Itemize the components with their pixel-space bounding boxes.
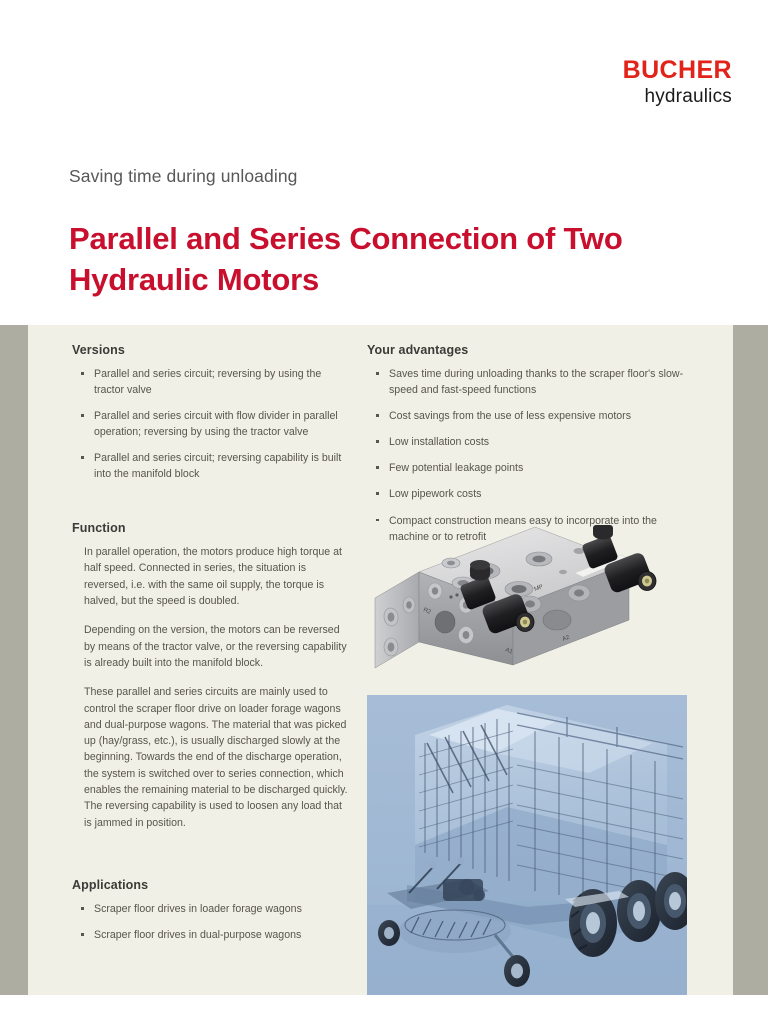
advantages-heading: Your advantages (367, 343, 687, 357)
function-paragraph: In parallel operation, the motors produc… (72, 544, 350, 609)
forage-wagon-illustration (367, 695, 687, 995)
manifold-block-image: R2 MP A1 A2 (367, 525, 687, 685)
logo-wordmark-hydraulics: hydraulics (623, 87, 732, 106)
list-item: Scraper floor drives in loader forage wa… (72, 901, 350, 917)
function-paragraph: Depending on the version, the motors can… (72, 622, 350, 671)
page-title: Parallel and Series Connection of Two Hy… (69, 218, 709, 301)
list-item: Scraper floor drives in dual-purpose wag… (72, 927, 350, 943)
list-item: Parallel and series circuit with flow di… (72, 408, 347, 440)
applications-section: Applications Scraper floor drives in loa… (72, 878, 350, 953)
advantages-section: Your advantages Saves time during unload… (367, 343, 687, 555)
function-paragraph: These parallel and series circuits are m… (72, 684, 350, 831)
wheel-2 (617, 880, 661, 942)
list-item: Low pipework costs (367, 486, 687, 502)
left-gray-margin-bar (0, 325, 28, 995)
list-item: Saves time during unloading thanks to th… (367, 366, 687, 398)
list-item: Parallel and series circuit; reversing c… (72, 450, 347, 482)
versions-heading: Versions (72, 343, 347, 357)
versions-section: Versions Parallel and series circuit; re… (72, 343, 347, 493)
advantages-list: Saves time during unloading thanks to th… (367, 366, 687, 545)
support-wheel (378, 920, 400, 946)
applications-list: Scraper floor drives in loader forage wa… (72, 901, 350, 943)
logo-wordmark-bucher: BUCHER (623, 58, 732, 83)
list-item: Parallel and series circuit; reversing b… (72, 366, 347, 398)
list-item: Low installation costs (367, 434, 687, 450)
function-heading: Function (72, 521, 350, 535)
right-gray-margin-bar (733, 325, 768, 995)
applications-heading: Applications (72, 878, 350, 892)
list-item: Cost savings from the use of less expens… (367, 408, 687, 424)
content-band: Versions Parallel and series circuit; re… (0, 325, 768, 995)
bucher-hydraulics-logo: BUCHER hydraulics (623, 58, 732, 106)
page-header: BUCHER hydraulics Saving time during unl… (0, 0, 768, 325)
versions-list: Parallel and series circuit; reversing b… (72, 366, 347, 483)
page-kicker: Saving time during unloading (69, 166, 298, 187)
list-item: Few potential leakage points (367, 460, 687, 476)
function-section: Function In parallel operation, the moto… (72, 521, 350, 831)
